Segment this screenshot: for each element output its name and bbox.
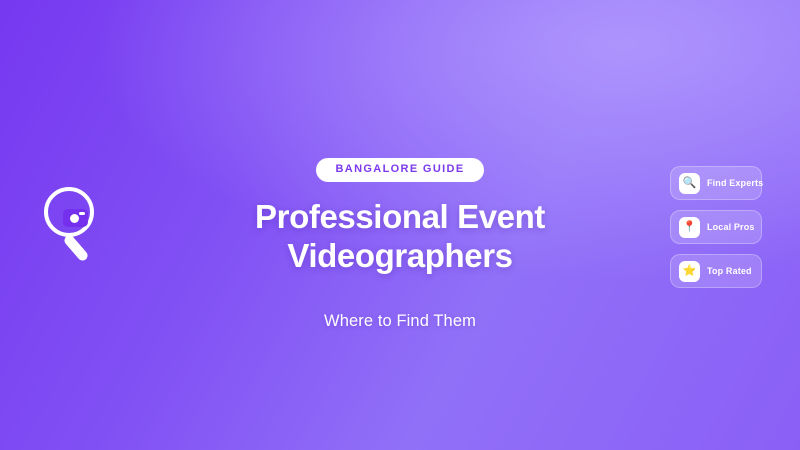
feature-card-list: 🔍 Find Experts 📍 Local Pros ⭐ Top Rated: [670, 166, 762, 288]
feature-card-label: Find Experts: [707, 178, 763, 188]
feature-card-label: Top Rated: [707, 266, 752, 276]
feature-card-label: Local Pros: [707, 222, 755, 232]
page-title-line-2: Videographers: [255, 237, 545, 276]
category-badge: BANGALORE GUIDE: [316, 158, 483, 182]
feature-card-top-rated[interactable]: ⭐ Top Rated: [670, 254, 762, 288]
page-subtitle: Where to Find Them: [324, 312, 476, 331]
magnifier-icon: 🔍: [679, 173, 700, 194]
page-title-line-1: Professional Event: [255, 198, 545, 237]
map-pin-icon: 📍: [679, 217, 700, 238]
star-icon: ⭐: [679, 261, 700, 282]
hero-banner: BANGALORE GUIDE Professional Event Video…: [0, 0, 800, 450]
page-title: Professional Event Videographers: [255, 198, 545, 276]
feature-card-find-experts[interactable]: 🔍 Find Experts: [670, 166, 762, 200]
feature-card-local-pros[interactable]: 📍 Local Pros: [670, 210, 762, 244]
